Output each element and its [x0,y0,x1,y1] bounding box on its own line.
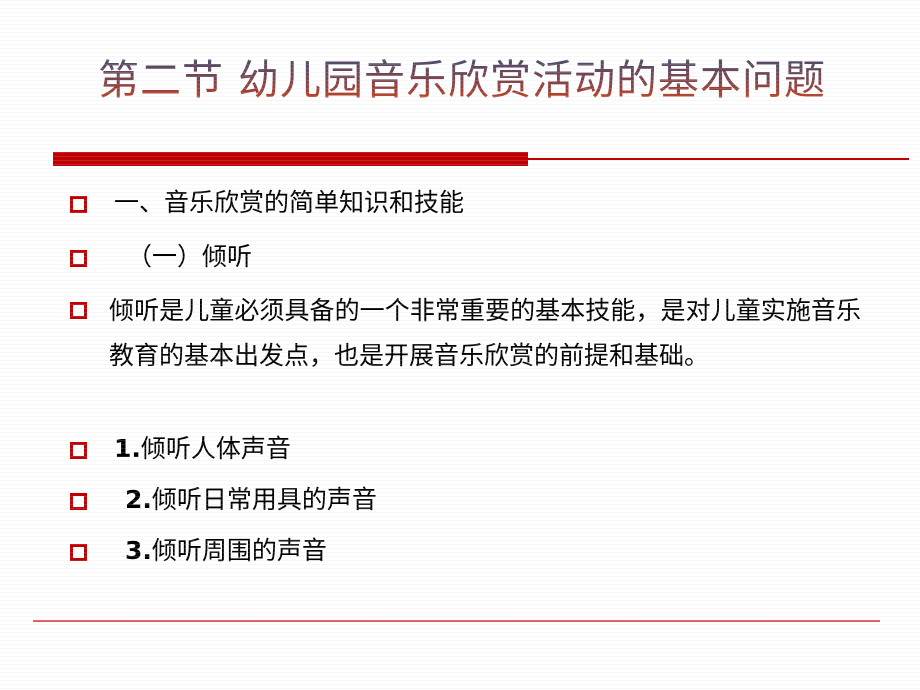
list-item: 倾听是儿童必须具备的一个非常重要的基本技能，是对儿童实施音乐教育的基本出发点，也… [0,288,920,428]
list-item: 2.倾听日常用具的声音 [0,479,920,530]
slide-title: 第二节 幼儿园音乐欣赏活动的基本问题 [98,52,908,110]
square-bullet-icon [70,544,87,561]
list-item: 3.倾听周围的声音 [0,530,920,581]
list-item: 1.倾听人体声音 [0,428,920,479]
square-bullet-icon [70,442,87,459]
list-item-paragraph: 倾听是儿童必须具备的一个非常重要的基本技能，是对儿童实施音乐教育的基本出发点，也… [109,288,861,378]
square-bullet-icon [70,250,87,267]
list-item-label: 2.倾听日常用具的声音 [125,479,377,520]
list-item-number: 2. [125,485,152,514]
title-rule-thick [53,152,528,166]
list-item-label: 1.倾听人体声音 [114,428,291,469]
presentation-slide: 第二节 幼儿园音乐欣赏活动的基本问题 一、音乐欣赏的简单知识和技能 （一）倾听 … [0,0,920,690]
square-bullet-icon [70,493,87,510]
list-item-number: 3. [125,536,152,565]
list-item-text: 倾听日常用具的声音 [152,485,377,514]
list-item: 一、音乐欣赏的简单知识和技能 [0,182,920,236]
list-item-text: 倾听人体声音 [141,434,291,463]
list-item-text: 倾听周围的声音 [152,536,327,565]
square-bullet-icon [70,196,87,213]
list-item-label: 3.倾听周围的声音 [125,530,327,571]
slide-body: 一、音乐欣赏的简单知识和技能 （一）倾听 倾听是儿童必须具备的一个非常重要的基本… [0,182,920,581]
list-item: （一）倾听 [0,236,920,288]
footer-rule [33,620,880,622]
square-bullet-icon [70,302,87,319]
list-item-label: （一）倾听 [127,236,252,277]
list-item-label: 一、音乐欣赏的简单知识和技能 [114,182,464,223]
list-item-number: 1. [114,434,141,463]
